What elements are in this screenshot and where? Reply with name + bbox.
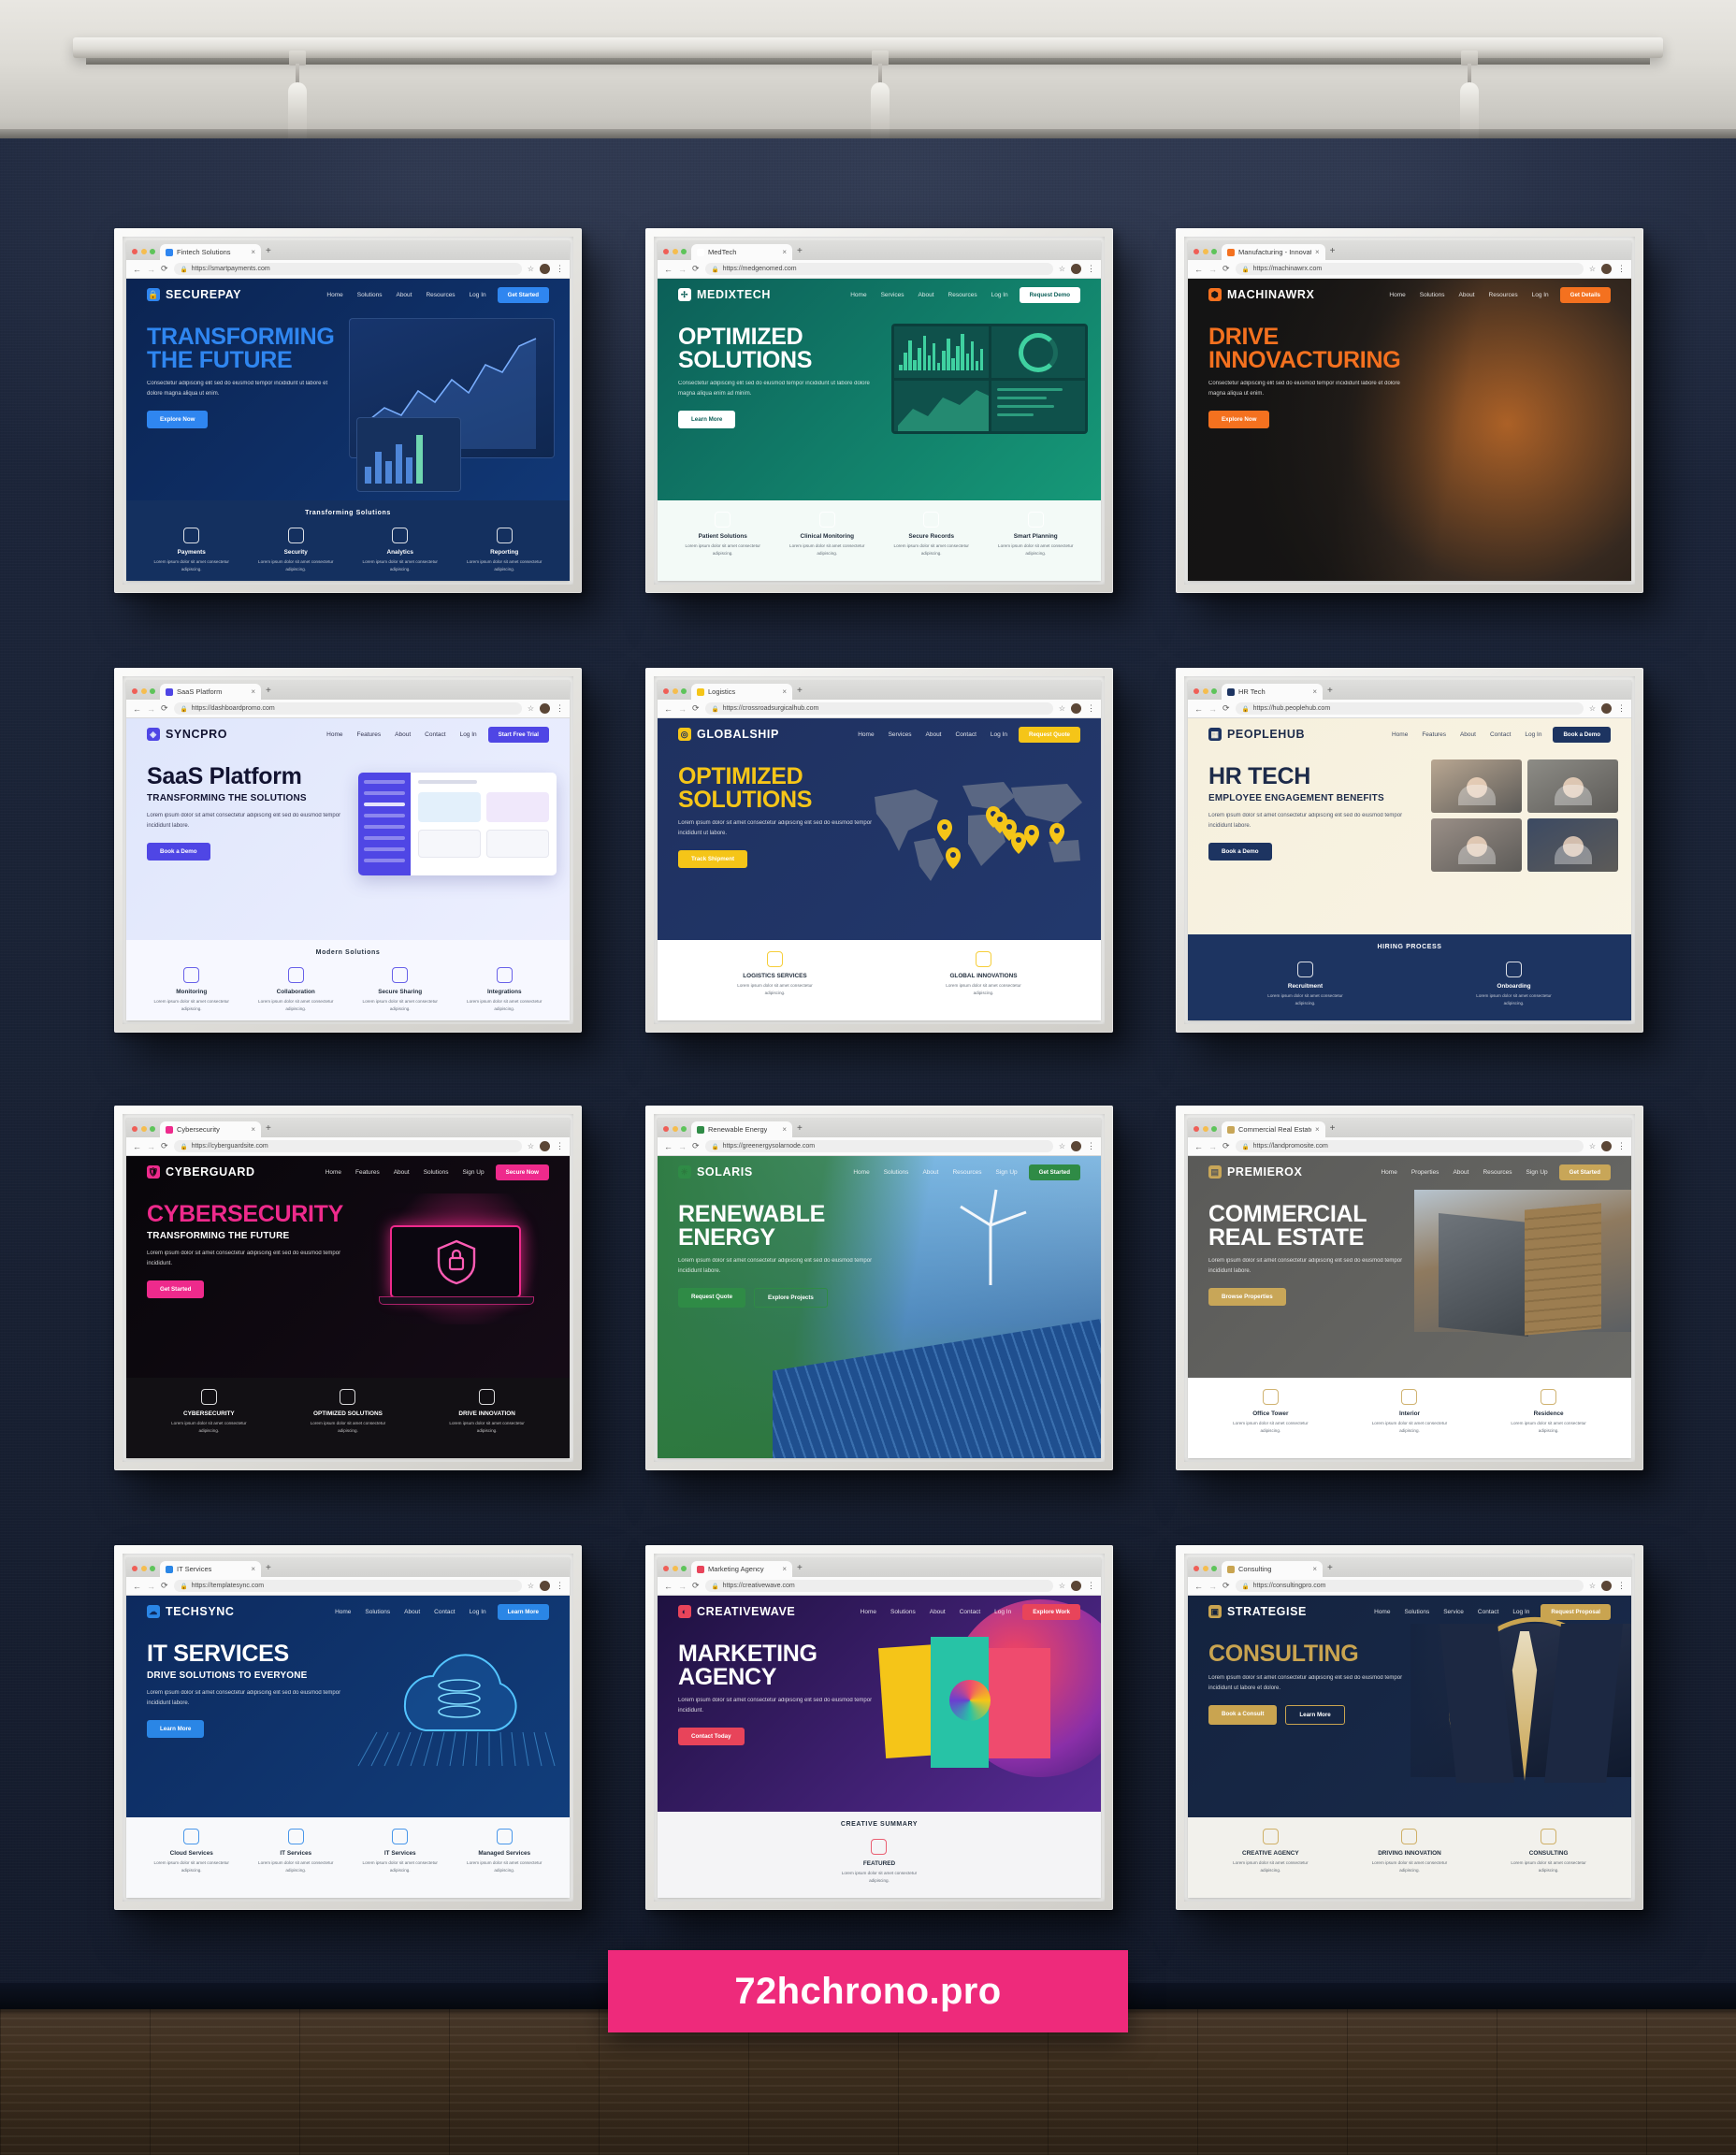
bookmark-icon[interactable]: ☆ bbox=[528, 265, 534, 273]
browser-mockup-9[interactable]: Commercial Real Estate×+←→⟳🔒https://land… bbox=[1188, 1118, 1631, 1458]
nav-link[interactable]: Home bbox=[850, 292, 866, 298]
window-control-maximize[interactable] bbox=[681, 1566, 687, 1571]
browser-mockup-10[interactable]: IT Services×+←→⟳🔒https://templatesync.co… bbox=[126, 1557, 570, 1898]
nav-cta-button[interactable]: Book a Demo bbox=[1553, 727, 1611, 743]
hero-button[interactable]: Request Quote bbox=[678, 1288, 745, 1308]
close-icon[interactable]: × bbox=[251, 688, 255, 696]
bookmark-icon[interactable]: ☆ bbox=[1589, 265, 1596, 273]
site-logo[interactable]: ▤PREMIEROX bbox=[1208, 1165, 1302, 1179]
nav-link[interactable]: Resources bbox=[1489, 292, 1518, 298]
browser-mockup-8[interactable]: Renewable Energy×+←→⟳🔒https://greenergys… bbox=[658, 1118, 1101, 1458]
window-control-minimize[interactable] bbox=[673, 688, 678, 694]
site-logo[interactable]: 🛡CYBERGUARD bbox=[147, 1165, 255, 1179]
reload-icon[interactable]: ⟳ bbox=[1222, 1581, 1230, 1591]
browser-tab[interactable]: Manufacturing - Innovat× bbox=[1222, 244, 1325, 260]
nav-link[interactable]: Resources bbox=[426, 292, 455, 298]
nav-link[interactable]: About bbox=[1453, 1169, 1468, 1176]
browser-tab[interactable]: MedTech× bbox=[691, 244, 792, 260]
nav-link[interactable]: Home bbox=[1381, 1169, 1396, 1176]
nav-link[interactable]: Home bbox=[858, 731, 874, 738]
feature-item[interactable]: GLOBAL INNOVATIONSLorem ipsum dolor sit … bbox=[935, 951, 1032, 997]
forward-icon[interactable]: → bbox=[1208, 704, 1217, 714]
new-tab-icon[interactable]: + bbox=[1330, 1123, 1336, 1137]
nav-link[interactable]: Home bbox=[861, 1609, 876, 1615]
nav-link[interactable]: Resources bbox=[1483, 1169, 1512, 1176]
hero-button[interactable]: Book a Demo bbox=[147, 843, 210, 861]
back-icon[interactable]: ← bbox=[133, 1142, 141, 1151]
new-tab-icon[interactable]: + bbox=[1330, 246, 1336, 260]
address-input[interactable]: 🔒https://crossroadsurgicalhub.com bbox=[705, 702, 1053, 715]
bookmark-icon[interactable]: ☆ bbox=[528, 1582, 534, 1590]
forward-icon[interactable]: → bbox=[678, 1582, 687, 1591]
window-control-maximize[interactable] bbox=[150, 249, 155, 254]
browser-mockup-3[interactable]: Manufacturing - Innovat×+←→⟳🔒https://mac… bbox=[1188, 240, 1631, 581]
close-icon[interactable]: × bbox=[782, 1566, 787, 1573]
nav-link[interactable]: Solutions bbox=[884, 1169, 909, 1176]
feature-item[interactable]: DRIVING INNOVATIONLorem ipsum dolor sit … bbox=[1362, 1829, 1458, 1874]
browser-tab[interactable]: Renewable Energy× bbox=[691, 1121, 792, 1137]
feature-item[interactable]: Precision SystemsLorem ipsum dolor sit a… bbox=[1205, 522, 1301, 568]
address-input[interactable]: 🔒https://medgenomed.com bbox=[705, 263, 1053, 275]
nav-link[interactable]: About bbox=[394, 1169, 410, 1176]
window-control-close[interactable] bbox=[1193, 688, 1199, 694]
nav-link[interactable]: Solutions bbox=[1404, 1609, 1429, 1615]
feature-item[interactable]: Smart PlanningLorem ipsum dolor sit amet… bbox=[988, 512, 1084, 557]
nav-link[interactable]: Home bbox=[853, 1169, 869, 1176]
avatar[interactable] bbox=[540, 1141, 550, 1151]
back-icon[interactable]: ← bbox=[1194, 704, 1203, 714]
browser-tab[interactable]: Marketing Agency× bbox=[691, 1561, 792, 1577]
avatar[interactable] bbox=[1601, 1581, 1612, 1591]
nav-cta-button[interactable]: Start Free Trial bbox=[488, 727, 549, 743]
forward-icon[interactable]: → bbox=[1208, 1582, 1217, 1591]
window-control-minimize[interactable] bbox=[141, 688, 147, 694]
hero-button[interactable]: Book a Demo bbox=[1208, 843, 1272, 861]
forward-icon[interactable]: → bbox=[1208, 1142, 1217, 1151]
reload-icon[interactable]: ⟳ bbox=[692, 264, 700, 274]
window-control-maximize[interactable] bbox=[150, 688, 155, 694]
nav-link[interactable]: Home bbox=[326, 731, 342, 738]
address-input[interactable]: 🔒https://dashboardpromo.com bbox=[174, 702, 522, 715]
address-input[interactable]: 🔒https://greenergysolarnode.com bbox=[705, 1140, 1053, 1152]
back-icon[interactable]: ← bbox=[1194, 1142, 1203, 1151]
menu-icon[interactable]: ⋮ bbox=[1617, 1141, 1625, 1151]
menu-icon[interactable]: ⋮ bbox=[556, 703, 563, 714]
feature-item[interactable]: FEATUREDLorem ipsum dolor sit amet conse… bbox=[832, 1839, 928, 1885]
forward-icon[interactable]: → bbox=[147, 265, 155, 274]
hero-button[interactable]: Browse Properties bbox=[1208, 1288, 1286, 1306]
close-icon[interactable]: × bbox=[251, 1126, 255, 1134]
window-control-close[interactable] bbox=[663, 688, 669, 694]
address-input[interactable]: 🔒https://creativewave.com bbox=[705, 1580, 1053, 1592]
feature-item[interactable]: CONSULTINGLorem ipsum dolor sit amet con… bbox=[1500, 1829, 1597, 1874]
forward-icon[interactable]: → bbox=[678, 1142, 687, 1151]
close-icon[interactable]: × bbox=[1312, 688, 1317, 696]
menu-icon[interactable]: ⋮ bbox=[556, 1141, 563, 1151]
nav-cta-button[interactable]: Get Started bbox=[1029, 1164, 1080, 1180]
window-control-minimize[interactable] bbox=[141, 1566, 147, 1571]
window-control-close[interactable] bbox=[132, 249, 137, 254]
site-logo[interactable]: ◈SYNCPRO bbox=[147, 728, 227, 741]
browser-tab[interactable]: Fintech Solutions× bbox=[160, 244, 261, 260]
feature-item[interactable]: Clinical MonitoringLorem ipsum dolor sit… bbox=[779, 512, 875, 557]
avatar[interactable] bbox=[540, 1581, 550, 1591]
browser-mockup-1[interactable]: Fintech Solutions×+←→⟳🔒https://smartpaym… bbox=[126, 240, 570, 581]
nav-cta-button[interactable]: Secure Now bbox=[496, 1164, 549, 1180]
back-icon[interactable]: ← bbox=[664, 1142, 673, 1151]
window-control-close[interactable] bbox=[132, 1126, 137, 1132]
nav-link[interactable]: Home bbox=[335, 1609, 351, 1615]
close-icon[interactable]: × bbox=[251, 1566, 255, 1573]
feature-item[interactable]: PaymentsLorem ipsum dolor sit amet conse… bbox=[143, 528, 239, 573]
feature-item[interactable]: ResidenceLorem ipsum dolor sit amet cons… bbox=[1500, 1389, 1597, 1435]
avatar[interactable] bbox=[540, 703, 550, 714]
nav-link[interactable]: About bbox=[930, 1609, 946, 1615]
window-control-minimize[interactable] bbox=[673, 249, 678, 254]
hero-button[interactable]: Learn More bbox=[147, 1720, 204, 1738]
nav-link[interactable]: Log In bbox=[470, 1609, 486, 1615]
window-controls[interactable] bbox=[132, 688, 155, 700]
feature-item[interactable]: DRIVE INNOVATIONLorem ipsum dolor sit am… bbox=[439, 1389, 535, 1435]
close-icon[interactable]: × bbox=[1312, 1566, 1317, 1573]
browser-tab[interactable]: HR Tech× bbox=[1222, 684, 1323, 700]
avatar[interactable] bbox=[1071, 1581, 1081, 1591]
back-icon[interactable]: ← bbox=[133, 1582, 141, 1591]
nav-link[interactable]: Resources bbox=[948, 292, 977, 298]
site-logo[interactable]: ☀SOLARIS bbox=[678, 1165, 753, 1179]
window-control-maximize[interactable] bbox=[681, 1126, 687, 1132]
feature-item[interactable]: IT ServicesLorem ipsum dolor sit amet co… bbox=[352, 1829, 448, 1874]
nav-link[interactable]: Home bbox=[325, 1169, 341, 1176]
feature-item[interactable]: Quality ControlLorem ipsum dolor sit ame… bbox=[1518, 522, 1614, 568]
bookmark-icon[interactable]: ☆ bbox=[528, 704, 534, 713]
feature-item[interactable]: Secure RecordsLorem ipsum dolor sit amet… bbox=[883, 512, 979, 557]
nav-link[interactable]: Services bbox=[881, 292, 904, 298]
bookmark-icon[interactable]: ☆ bbox=[1589, 1142, 1596, 1150]
nav-link[interactable]: Features bbox=[1422, 731, 1446, 738]
nav-link[interactable]: Features bbox=[357, 731, 382, 738]
back-icon[interactable]: ← bbox=[133, 265, 141, 274]
window-control-minimize[interactable] bbox=[673, 1126, 678, 1132]
avatar[interactable] bbox=[1601, 1141, 1612, 1151]
browser-mockup-6[interactable]: HR Tech×+←→⟳🔒https://hub.peoplehub.com☆⋮… bbox=[1188, 680, 1631, 1020]
nav-link[interactable]: Services bbox=[889, 731, 912, 738]
site-logo[interactable]: ⬢MACHINAWRX bbox=[1208, 288, 1315, 301]
nav-link[interactable]: Sign Up bbox=[1526, 1169, 1548, 1176]
feature-item[interactable]: CREATIVE AGENCYLorem ipsum dolor sit ame… bbox=[1222, 1829, 1319, 1874]
window-control-maximize[interactable] bbox=[681, 249, 687, 254]
feature-item[interactable]: IntegrationsLorem ipsum dolor sit amet c… bbox=[456, 967, 553, 1013]
reload-icon[interactable]: ⟳ bbox=[1222, 264, 1230, 274]
nav-cta-button[interactable]: Request Demo bbox=[1020, 287, 1080, 303]
nav-link[interactable]: Log In bbox=[460, 731, 477, 738]
hero-button[interactable]: Learn More bbox=[1285, 1705, 1344, 1725]
browser-mockup-12[interactable]: Consulting×+←→⟳🔒https://consultingpro.co… bbox=[1188, 1557, 1631, 1898]
feature-item[interactable]: CYBERSECURITYLorem ipsum dolor sit amet … bbox=[161, 1389, 257, 1435]
window-control-maximize[interactable] bbox=[150, 1126, 155, 1132]
new-tab-icon[interactable]: + bbox=[1327, 686, 1333, 700]
window-control-close[interactable] bbox=[132, 1566, 137, 1571]
address-input[interactable]: 🔒https://hub.peoplehub.com bbox=[1236, 702, 1584, 715]
forward-icon[interactable]: → bbox=[678, 265, 687, 274]
window-control-minimize[interactable] bbox=[1203, 688, 1208, 694]
window-control-maximize[interactable] bbox=[1211, 249, 1217, 254]
bookmark-icon[interactable]: ☆ bbox=[1059, 1582, 1065, 1590]
avatar[interactable] bbox=[1071, 264, 1081, 274]
close-icon[interactable]: × bbox=[1315, 249, 1320, 256]
forward-icon[interactable]: → bbox=[147, 704, 155, 714]
new-tab-icon[interactable]: + bbox=[266, 686, 271, 700]
reload-icon[interactable]: ⟳ bbox=[1222, 1141, 1230, 1151]
nav-link[interactable]: Sign Up bbox=[462, 1169, 484, 1176]
bookmark-icon[interactable]: ☆ bbox=[528, 1142, 534, 1150]
window-control-close[interactable] bbox=[663, 249, 669, 254]
menu-icon[interactable]: ⋮ bbox=[556, 264, 563, 274]
feature-item[interactable]: InteriorLorem ipsum dolor sit amet conse… bbox=[1362, 1389, 1458, 1435]
feature-item[interactable]: IT ServicesLorem ipsum dolor sit amet co… bbox=[248, 1829, 344, 1874]
hero-button[interactable]: Contact Today bbox=[678, 1728, 745, 1745]
window-control-minimize[interactable] bbox=[1203, 249, 1208, 254]
hero-button[interactable]: Track Shipment bbox=[678, 850, 747, 868]
forward-icon[interactable]: → bbox=[147, 1142, 155, 1151]
site-logo[interactable]: ◎GLOBALSHIP bbox=[678, 728, 779, 741]
browser-tab[interactable]: Logistics× bbox=[691, 684, 792, 700]
window-controls[interactable] bbox=[663, 1566, 687, 1577]
browser-tab[interactable]: IT Services× bbox=[160, 1561, 261, 1577]
feature-item[interactable]: SecurityLorem ipsum dolor sit amet conse… bbox=[248, 528, 344, 573]
window-controls[interactable] bbox=[132, 249, 155, 260]
feature-item[interactable]: MonitoringLorem ipsum dolor sit amet con… bbox=[143, 967, 239, 1013]
browser-mockup-5[interactable]: Logistics×+←→⟳🔒https://crossroadsurgical… bbox=[658, 680, 1101, 1020]
new-tab-icon[interactable]: + bbox=[797, 686, 803, 700]
address-input[interactable]: 🔒https://cyberguardsite.com bbox=[174, 1140, 522, 1152]
window-control-close[interactable] bbox=[1193, 1566, 1199, 1571]
hero-button[interactable]: Learn More bbox=[678, 411, 735, 428]
nav-link[interactable]: About bbox=[396, 292, 412, 298]
nav-link[interactable]: Sign Up bbox=[996, 1169, 1018, 1176]
nav-link[interactable]: About bbox=[404, 1609, 420, 1615]
nav-link[interactable]: Solutions bbox=[1420, 292, 1445, 298]
avatar[interactable] bbox=[1601, 264, 1612, 274]
reload-icon[interactable]: ⟳ bbox=[161, 1581, 168, 1591]
window-control-minimize[interactable] bbox=[141, 1126, 147, 1132]
window-control-close[interactable] bbox=[663, 1126, 669, 1132]
window-control-maximize[interactable] bbox=[1211, 1566, 1217, 1571]
nav-link[interactable]: Log In bbox=[470, 292, 486, 298]
window-controls[interactable] bbox=[1193, 1566, 1217, 1577]
browser-tab[interactable]: Commercial Real Estate× bbox=[1222, 1121, 1325, 1137]
reload-icon[interactable]: ⟳ bbox=[692, 703, 700, 714]
nav-link[interactable]: Solutions bbox=[424, 1169, 449, 1176]
bookmark-icon[interactable]: ☆ bbox=[1059, 704, 1065, 713]
window-control-close[interactable] bbox=[1193, 249, 1199, 254]
nav-link[interactable]: Contact bbox=[1490, 731, 1511, 738]
close-icon[interactable]: × bbox=[1315, 1126, 1320, 1134]
back-icon[interactable]: ← bbox=[133, 704, 141, 714]
address-input[interactable]: 🔒https://consultingpro.com bbox=[1236, 1580, 1584, 1592]
back-icon[interactable]: ← bbox=[664, 704, 673, 714]
menu-icon[interactable]: ⋮ bbox=[1617, 703, 1625, 714]
window-control-maximize[interactable] bbox=[1211, 1126, 1217, 1132]
nav-cta-button[interactable]: Get Started bbox=[1559, 1164, 1611, 1180]
bookmark-icon[interactable]: ☆ bbox=[1059, 265, 1065, 273]
nav-cta-button[interactable]: Get Started bbox=[498, 287, 549, 303]
address-input[interactable]: 🔒https://templatesync.com bbox=[174, 1580, 522, 1592]
browser-tab[interactable]: Consulting× bbox=[1222, 1561, 1323, 1577]
nav-link[interactable]: Contact bbox=[956, 731, 976, 738]
window-controls[interactable] bbox=[663, 249, 687, 260]
nav-link[interactable]: About bbox=[926, 731, 942, 738]
address-input[interactable]: 🔒https://machinawrx.com bbox=[1236, 263, 1584, 275]
menu-icon[interactable]: ⋮ bbox=[556, 1581, 563, 1591]
site-logo[interactable]: 🔒SECUREPAY bbox=[147, 288, 241, 301]
nav-link[interactable]: Contact bbox=[1478, 1609, 1498, 1615]
nav-link[interactable]: About bbox=[1459, 292, 1475, 298]
reload-icon[interactable]: ⟳ bbox=[692, 1141, 700, 1151]
back-icon[interactable]: ← bbox=[1194, 1582, 1203, 1591]
window-control-maximize[interactable] bbox=[150, 1566, 155, 1571]
browser-mockup-7[interactable]: Cybersecurity×+←→⟳🔒https://cyberguardsit… bbox=[126, 1118, 570, 1458]
menu-icon[interactable]: ⋮ bbox=[1617, 1581, 1625, 1591]
nav-link[interactable]: Contact bbox=[960, 1609, 980, 1615]
window-controls[interactable] bbox=[132, 1126, 155, 1137]
nav-link[interactable]: Solutions bbox=[357, 292, 383, 298]
nav-cta-button[interactable]: Request Quote bbox=[1019, 727, 1080, 743]
window-control-maximize[interactable] bbox=[1211, 688, 1217, 694]
window-control-minimize[interactable] bbox=[141, 249, 147, 254]
forward-icon[interactable]: → bbox=[1208, 265, 1217, 274]
window-control-minimize[interactable] bbox=[1203, 1566, 1208, 1571]
nav-link[interactable]: Home bbox=[326, 292, 342, 298]
browser-tab[interactable]: SaaS Platform× bbox=[160, 684, 261, 700]
avatar[interactable] bbox=[1071, 1141, 1081, 1151]
back-icon[interactable]: ← bbox=[664, 265, 673, 274]
window-controls[interactable] bbox=[1193, 1126, 1217, 1137]
nav-link[interactable]: Home bbox=[1389, 292, 1405, 298]
nav-link[interactable]: Resources bbox=[952, 1169, 981, 1176]
nav-cta-button[interactable]: Explore Work bbox=[1022, 1604, 1080, 1620]
feature-item[interactable]: OnboardingLorem ipsum dolor sit amet con… bbox=[1466, 962, 1562, 1007]
new-tab-icon[interactable]: + bbox=[266, 1123, 271, 1137]
new-tab-icon[interactable]: + bbox=[1327, 1563, 1333, 1577]
hero-button[interactable]: Book a Consult bbox=[1208, 1705, 1277, 1725]
window-controls[interactable] bbox=[132, 1566, 155, 1577]
site-logo[interactable]: ▦PEOPLEHUB bbox=[1208, 728, 1305, 741]
feature-item[interactable]: Secure SharingLorem ipsum dolor sit amet… bbox=[352, 967, 448, 1013]
nav-link[interactable]: About bbox=[919, 292, 934, 298]
new-tab-icon[interactable]: + bbox=[797, 1123, 803, 1137]
browser-mockup-4[interactable]: SaaS Platform×+←→⟳🔒https://dashboardprom… bbox=[126, 680, 570, 1020]
window-controls[interactable] bbox=[663, 1126, 687, 1137]
hero-button[interactable]: Get Started bbox=[147, 1280, 204, 1298]
new-tab-icon[interactable]: + bbox=[266, 1563, 271, 1577]
nav-link[interactable]: Log In bbox=[991, 292, 1008, 298]
nav-link[interactable]: Contact bbox=[425, 731, 445, 738]
feature-item[interactable]: Managed ServicesLorem ipsum dolor sit am… bbox=[456, 1829, 553, 1874]
feature-item[interactable]: LOGISTICS SERVICESLorem ipsum dolor sit … bbox=[727, 951, 823, 997]
menu-icon[interactable]: ⋮ bbox=[1087, 703, 1094, 714]
back-icon[interactable]: ← bbox=[664, 1582, 673, 1591]
site-logo[interactable]: ▣STRATEGISE bbox=[1208, 1605, 1307, 1618]
close-icon[interactable]: × bbox=[782, 688, 787, 696]
window-control-close[interactable] bbox=[1193, 1126, 1199, 1132]
nav-link[interactable]: About bbox=[395, 731, 411, 738]
address-input[interactable]: 🔒https://smartpayments.com bbox=[174, 263, 522, 275]
window-controls[interactable] bbox=[663, 688, 687, 700]
bookmark-icon[interactable]: ☆ bbox=[1589, 1582, 1596, 1590]
nav-link[interactable]: Log In bbox=[991, 731, 1007, 738]
close-icon[interactable]: × bbox=[251, 249, 255, 256]
avatar[interactable] bbox=[1071, 703, 1081, 714]
browser-mockup-2[interactable]: MedTech×+←→⟳🔒https://medgenomed.com☆⋮ ✢M… bbox=[658, 240, 1101, 581]
hero-button[interactable]: Explore Now bbox=[147, 411, 208, 428]
avatar[interactable] bbox=[540, 264, 550, 274]
browser-mockup-11[interactable]: Marketing Agency×+←→⟳🔒https://creativewa… bbox=[658, 1557, 1101, 1898]
reload-icon[interactable]: ⟳ bbox=[161, 1141, 168, 1151]
window-control-close[interactable] bbox=[132, 688, 137, 694]
feature-item[interactable]: AnalyticsLorem ipsum dolor sit amet cons… bbox=[352, 528, 448, 573]
feature-item[interactable]: AutomationLorem ipsum dolor sit amet con… bbox=[1309, 522, 1406, 568]
avatar[interactable] bbox=[1601, 703, 1612, 714]
feature-item[interactable]: RENEWABLE ENERGYLorem ipsum dolor sit am… bbox=[935, 1389, 1032, 1435]
forward-icon[interactable]: → bbox=[678, 704, 687, 714]
nav-cta-button[interactable]: Request Proposal bbox=[1541, 1604, 1611, 1620]
hero-button[interactable]: Explore Now bbox=[1208, 411, 1269, 428]
nav-link[interactable]: Solutions bbox=[365, 1609, 390, 1615]
promo-banner[interactable]: 72hchrono.pro bbox=[608, 1950, 1128, 2032]
nav-cta-button[interactable]: Learn More bbox=[498, 1604, 549, 1620]
window-control-close[interactable] bbox=[663, 1566, 669, 1571]
new-tab-icon[interactable]: + bbox=[266, 246, 271, 260]
site-logo[interactable]: ◐CREATIVEWAVE bbox=[678, 1605, 795, 1618]
nav-cta-button[interactable]: Get Details bbox=[1560, 287, 1611, 303]
new-tab-icon[interactable]: + bbox=[797, 246, 803, 260]
bookmark-icon[interactable]: ☆ bbox=[1059, 1142, 1065, 1150]
nav-link[interactable]: Solutions bbox=[890, 1609, 916, 1615]
feature-item[interactable]: RecruitmentLorem ipsum dolor sit amet co… bbox=[1257, 962, 1353, 1007]
nav-link[interactable]: Contact bbox=[434, 1609, 455, 1615]
feature-item[interactable]: Patient SolutionsLorem ipsum dolor sit a… bbox=[674, 512, 771, 557]
feature-item[interactable]: OPTIMIZED SOLUTIONSLorem ipsum dolor sit… bbox=[300, 1389, 397, 1435]
forward-icon[interactable]: → bbox=[147, 1582, 155, 1591]
feature-item[interactable]: Cloud ServicesLorem ipsum dolor sit amet… bbox=[143, 1829, 239, 1874]
window-control-maximize[interactable] bbox=[681, 688, 687, 694]
reload-icon[interactable]: ⟳ bbox=[161, 264, 168, 274]
menu-icon[interactable]: ⋮ bbox=[1087, 1141, 1094, 1151]
back-icon[interactable]: ← bbox=[1194, 265, 1203, 274]
bookmark-icon[interactable]: ☆ bbox=[1589, 704, 1596, 713]
nav-link[interactable]: Log In bbox=[1525, 731, 1541, 738]
new-tab-icon[interactable]: + bbox=[797, 1563, 803, 1577]
nav-link[interactable]: Service bbox=[1443, 1609, 1464, 1615]
close-icon[interactable]: × bbox=[782, 249, 787, 256]
feature-item[interactable]: Office TowerLorem ipsum dolor sit amet c… bbox=[1222, 1389, 1319, 1435]
menu-icon[interactable]: ⋮ bbox=[1087, 264, 1094, 274]
nav-link[interactable]: About bbox=[922, 1169, 938, 1176]
reload-icon[interactable]: ⟳ bbox=[692, 1581, 700, 1591]
nav-link[interactable]: Properties bbox=[1411, 1169, 1439, 1176]
window-controls[interactable] bbox=[1193, 249, 1217, 260]
feature-item[interactable]: CollaborationLorem ipsum dolor sit amet … bbox=[248, 967, 344, 1013]
hero-button[interactable]: Explore Projects bbox=[754, 1288, 828, 1308]
nav-link[interactable]: Home bbox=[1374, 1609, 1390, 1615]
menu-icon[interactable]: ⋮ bbox=[1617, 264, 1625, 274]
site-logo[interactable]: ☁TECHSYNC bbox=[147, 1605, 235, 1618]
site-logo[interactable]: ✢MEDIXTECH bbox=[678, 288, 771, 301]
nav-link[interactable]: Home bbox=[1392, 731, 1408, 738]
feature-item[interactable]: Robotics LineLorem ipsum dolor sit amet … bbox=[1413, 522, 1510, 568]
window-controls[interactable] bbox=[1193, 688, 1217, 700]
